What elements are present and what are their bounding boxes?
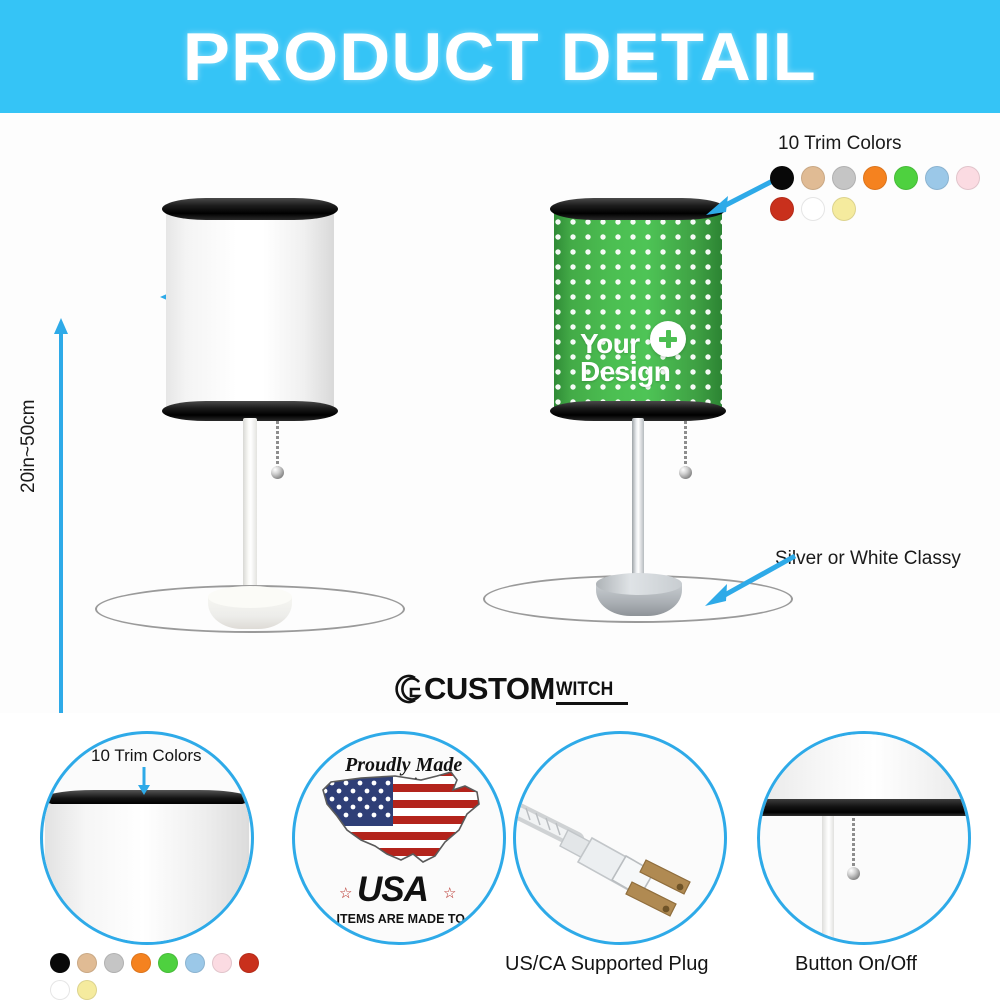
us-plug-icon: [514, 764, 727, 929]
trim-swatch-orange[interactable]: [863, 166, 887, 190]
white-lamp-pull-chain[interactable]: [276, 421, 278, 479]
base-finish-pointer-arrow-icon: [695, 548, 805, 610]
trim-swatch-light-blue[interactable]: [185, 953, 205, 973]
trim-colors-inner-label: 10 Trim Colors: [91, 746, 202, 766]
switch-panel-shade: [760, 734, 968, 806]
custom-lamp-shade[interactable]: Your Design: [554, 203, 722, 413]
trim-colors-swatch-row-top[interactable]: [770, 166, 1000, 221]
chain-ball-icon: [271, 466, 284, 479]
plus-icon[interactable]: [650, 321, 686, 357]
chain-ball-icon: [847, 867, 860, 880]
trim-swatch-yellow[interactable]: [832, 197, 856, 221]
switch-panel: [757, 731, 971, 945]
main-showcase: 7in~18cm 20in~50cm: [0, 113, 1000, 713]
feature-panels: 10 Trim Colors Proudly Made in the: [0, 713, 1000, 1000]
trim-swatch-tan[interactable]: [801, 166, 825, 190]
usa-sub-text: ALL ITEMS ARE MADE TO ORDER!: [309, 912, 506, 926]
white-lamp-top-trim: [162, 198, 338, 220]
chain-beads-icon: [276, 421, 279, 469]
usa-star-right-icon: ☆: [443, 884, 456, 902]
chain-beads-icon: [852, 818, 855, 870]
trim-swatch-light-blue[interactable]: [925, 166, 949, 190]
usa-star-left-icon: ☆: [339, 884, 352, 902]
silver-base-top: [596, 573, 682, 595]
trim-swatch-gray[interactable]: [104, 953, 124, 973]
made-in-usa-panel: Proudly Made in the: [292, 731, 506, 945]
brand-logo: CUSTOM WITCH: [393, 665, 628, 705]
trim-swatch-pink[interactable]: [212, 953, 232, 973]
usa-big-text: USA: [357, 870, 428, 910]
trim-swatch-black[interactable]: [50, 953, 70, 973]
custom-lamp-base: [596, 573, 682, 617]
chain-ball-icon: [679, 466, 692, 479]
switch-panel-trim: [760, 799, 968, 816]
trim-colors-panel: 10 Trim Colors: [40, 731, 254, 945]
plug-panel-caption: US/CA Supported Plug: [505, 953, 708, 976]
chain-beads-icon: [684, 421, 687, 469]
panel-shade-body: [45, 804, 249, 942]
trim-swatch-white[interactable]: [50, 980, 70, 1000]
down-arrow-icon: [136, 767, 152, 795]
height-dimension-arrow-icon: [52, 318, 70, 738]
height-dimension-label: 20in~50cm: [18, 400, 40, 493]
trim-swatch-orange[interactable]: [131, 953, 151, 973]
trim-swatch-gray[interactable]: [832, 166, 856, 190]
trim-swatch-red[interactable]: [770, 197, 794, 221]
trim-colors-swatch-row-bottom[interactable]: [50, 953, 265, 1000]
custom-lamp-pull-chain[interactable]: [684, 421, 686, 479]
custom-lamp-stem: [632, 418, 644, 596]
white-lamp-base: [208, 586, 292, 630]
custom-design-text: Your Design: [554, 330, 722, 387]
infographic-root: PRODUCT DETAIL 7in~18cm 20in~50cm: [0, 0, 1000, 1000]
trim-swatch-white[interactable]: [801, 197, 825, 221]
white-lamp: [160, 203, 340, 643]
trim-swatch-black[interactable]: [770, 166, 794, 190]
page-title: PRODUCT DETAIL: [183, 18, 817, 96]
white-shade-surface: [166, 203, 334, 413]
c-arc-icon: [393, 673, 423, 705]
trim-swatch-pink[interactable]: [956, 166, 980, 190]
design-line-2: Design: [580, 358, 722, 387]
plug-panel: [513, 731, 727, 945]
white-base-top: [208, 586, 292, 608]
switch-panel-stem: [822, 816, 834, 942]
white-lamp-shade: [166, 203, 334, 413]
trim-swatch-green[interactable]: [894, 166, 918, 190]
logo-secondary-text: WITCH: [556, 680, 622, 700]
white-lamp-stem: [243, 418, 257, 608]
trim-swatch-red[interactable]: [239, 953, 259, 973]
trim-swatch-tan[interactable]: [77, 953, 97, 973]
trim-colors-label-top: 10 Trim Colors: [778, 133, 902, 155]
logo-underline: [556, 702, 628, 705]
logo-primary-text: CUSTOM: [424, 673, 555, 705]
trim-swatch-green[interactable]: [158, 953, 178, 973]
panel-pull-chain[interactable]: [852, 818, 854, 880]
trim-swatch-yellow[interactable]: [77, 980, 97, 1000]
switch-panel-caption: Button On/Off: [795, 953, 917, 976]
usa-map-flag-icon: [317, 768, 489, 874]
header-banner: PRODUCT DETAIL: [0, 0, 1000, 113]
